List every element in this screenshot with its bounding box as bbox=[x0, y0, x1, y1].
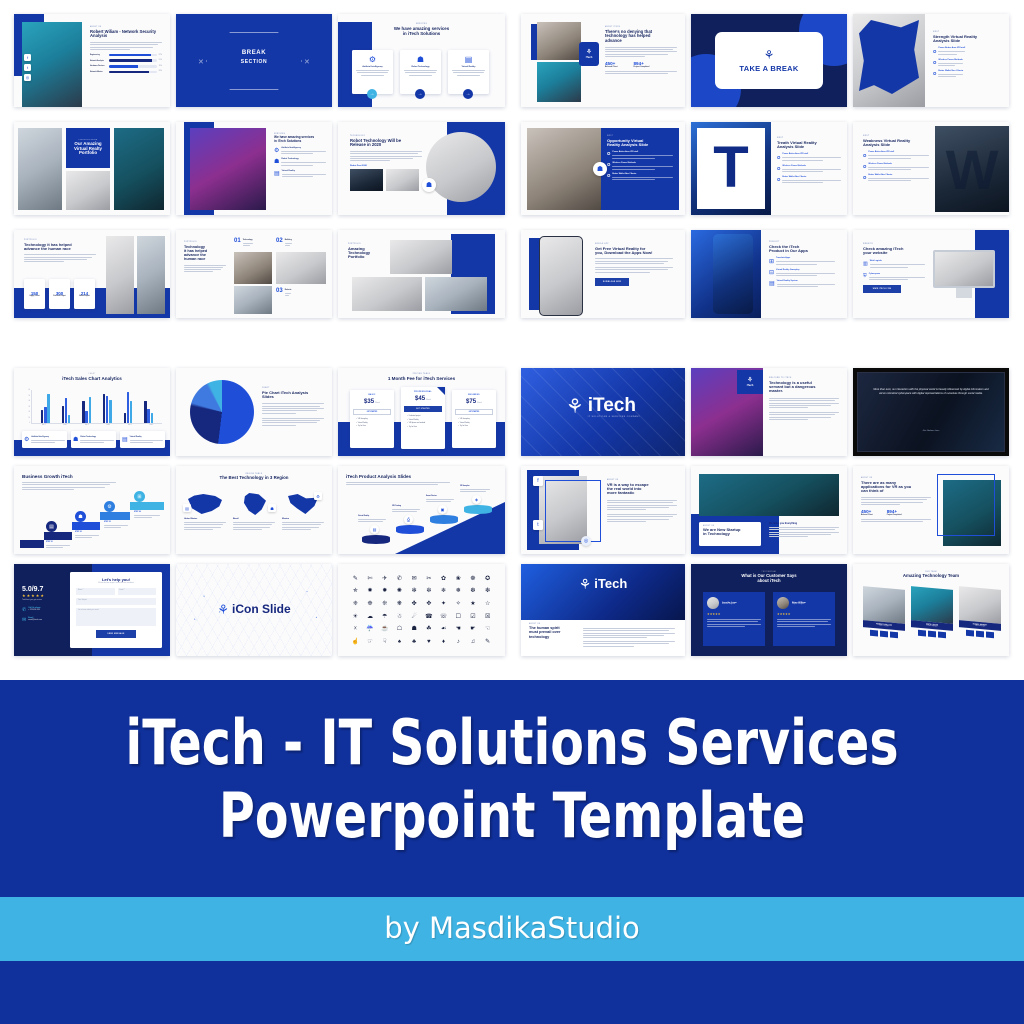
rating-stars: ★★★★★ bbox=[707, 612, 761, 616]
robot-icon: ☗ bbox=[422, 178, 436, 192]
photo-tile bbox=[425, 277, 487, 311]
slide-thumb-break-section[interactable]: BREAK SECTION ✕ ✕ bbox=[176, 14, 332, 107]
swot-item-label: Better Wallet Neo Ciberia bbox=[868, 174, 929, 176]
instagram-icon[interactable]: ◎ bbox=[581, 536, 591, 546]
slide-thumb-take-a-break[interactable]: ⚘ TAKE A BREAK bbox=[691, 14, 847, 107]
slide-thumb-product-analysis[interactable]: iTech Product Analysis Slides ▤ ⎙ ▣ ◈ Vi… bbox=[338, 466, 505, 554]
swot-panel: SWOT Opportunity Virtual Reality Analysi… bbox=[601, 128, 679, 210]
plan-button[interactable]: GET STARTED bbox=[353, 409, 391, 415]
slide-thumb-swot-opportunity[interactable]: SWOT Opportunity Virtual Reality Analysi… bbox=[521, 122, 685, 215]
icon-pack-glyph: ☛ bbox=[470, 625, 475, 632]
pricing-card-list: BASIC $35 /Month GET STARTED ✓ VR Gamepl… bbox=[350, 390, 496, 449]
icon-pack-glyph: ✧ bbox=[456, 600, 461, 607]
analysis-item: Smart Device bbox=[426, 495, 454, 502]
frame-outline bbox=[545, 480, 601, 542]
service-card-title: Artificial Intelligency bbox=[356, 66, 389, 68]
slide-title: Amazing Technology Team bbox=[853, 574, 1009, 579]
robot-icon: ☗ bbox=[73, 436, 78, 443]
check-circle-icon: ✪ bbox=[777, 165, 780, 172]
twitter-icon[interactable] bbox=[880, 631, 888, 638]
stat-label: Skilled Expert bbox=[79, 296, 90, 297]
item-label: Building bbox=[285, 239, 292, 241]
plan-name: BASIC bbox=[353, 394, 391, 396]
icon-pack-glyph: ✉ bbox=[412, 575, 417, 582]
team-list: ROBERT WILLIAM CEO Founder ANITA LUCAS P… bbox=[863, 588, 1001, 637]
swot-item-label: Wireless Power Methode bbox=[612, 162, 673, 164]
slide-eyebrow: PRICING TABLE bbox=[338, 374, 505, 375]
skill-label: Network Analysis bbox=[90, 60, 107, 62]
icon-pack-glyph: ☚ bbox=[456, 625, 461, 632]
icon-pack-glyph: ☔ bbox=[366, 625, 373, 632]
slide-eyebrow: PRODUCT bbox=[769, 242, 835, 243]
instagram-icon[interactable] bbox=[986, 632, 994, 639]
instagram-icon[interactable]: ◎ bbox=[24, 74, 31, 81]
check-circle-icon: ✪ bbox=[607, 173, 610, 180]
slide-thumb-team[interactable]: OUR TEAM Amazing Technology Team ROBERT … bbox=[853, 564, 1009, 656]
plan-feature: ✓ Unlimited project bbox=[407, 416, 442, 417]
icon-pack-glyph: ☒ bbox=[485, 613, 490, 620]
photo-tile bbox=[234, 252, 272, 284]
break-title: TAKE A BREAK bbox=[739, 64, 798, 73]
icon-pack-glyph: ❊ bbox=[382, 600, 387, 607]
quote-bg bbox=[857, 372, 1005, 452]
byline-text: by MasdikaStudio bbox=[0, 911, 1024, 945]
footer-bar bbox=[0, 961, 1024, 1024]
photo-tile bbox=[390, 240, 452, 274]
icon-pack-glyph: ✆ bbox=[397, 575, 402, 582]
slide-eyebrow: SWOT bbox=[777, 138, 841, 139]
swot-item-list: ✪ Power Better Area VR Intell ✪ Wireless… bbox=[607, 151, 673, 180]
step-label-block: STEP 01 bbox=[46, 541, 70, 548]
check-circle-icon: ✪ bbox=[933, 59, 936, 66]
legend-item: ⚙ Artificial Intelligency bbox=[22, 431, 67, 448]
phone-icon: ✆ bbox=[22, 607, 26, 613]
service-card[interactable]: ☗ Robot Technology → bbox=[400, 50, 441, 94]
ai-icon: ⚙ bbox=[24, 436, 29, 443]
twitter-icon[interactable]: t bbox=[24, 64, 31, 71]
platform-4 bbox=[464, 505, 492, 514]
slide-title-2: in Technology bbox=[703, 532, 757, 536]
pricing-card-professional[interactable]: PROFESSIONAL $45 /Month GET STARTED ✓ Un… bbox=[401, 387, 445, 449]
item-label: Virtual Reality bbox=[358, 515, 386, 517]
slide-thumb-business-growth[interactable]: Business Growth iTech ▤ ☗ ⚙ ⊞ STEP 01 ST… bbox=[14, 466, 170, 554]
icon-pack-glyph: ☑ bbox=[470, 613, 475, 620]
icon-pack-glyph: ☝ bbox=[352, 638, 359, 645]
slide-thumb-amazing-portfolio[interactable]: PORTFOLIO Amazing Technology Portfolio bbox=[338, 230, 505, 318]
slide-eyebrow: PORTFOLIO SLIDE bbox=[79, 140, 98, 141]
slide-thumb-vr-portfolio[interactable]: PORTFOLIO SLIDE Our Amazing Virtual Real… bbox=[14, 122, 170, 215]
pricing-card-basic[interactable]: BASIC $35 /Month GET STARTED ✓ VR Gamepl… bbox=[350, 390, 394, 448]
vr-icon: ▤ bbox=[769, 280, 775, 287]
twitter-icon[interactable]: t bbox=[533, 520, 543, 530]
stat-label: Finished Project bbox=[53, 296, 65, 297]
startup-title-card: ABOUT US We are New Startup in Technolog… bbox=[699, 522, 761, 546]
device-icon: ▣ bbox=[438, 505, 447, 514]
feature-item: ▤ Virtual Reality System bbox=[769, 280, 835, 287]
portfolio-photo-2 bbox=[66, 171, 110, 210]
icon-pack-glyph: ☃ bbox=[397, 613, 402, 620]
icon-pack-glyph: ☂ bbox=[382, 613, 387, 620]
region-item: ▤ United States bbox=[184, 492, 226, 530]
skill-row: Hardware Devices 76% bbox=[90, 65, 162, 68]
slide-title-2: Release in 2020 bbox=[350, 143, 422, 148]
swot-item: ✪ Wireless Power Methode bbox=[607, 162, 673, 169]
itech-mark-icon: ⚘ bbox=[764, 49, 775, 61]
mail-icon: ✉ bbox=[22, 617, 26, 623]
phone-mockup bbox=[539, 236, 583, 316]
itech-mark-icon: ⚘ bbox=[747, 377, 753, 384]
slide-title: iTech Product Analysis Slides bbox=[346, 474, 450, 479]
slide-title-2: about iTech bbox=[691, 579, 847, 584]
slide-title-3: advance bbox=[605, 39, 677, 44]
slide-thumb-robot-technology[interactable]: TECHNOLOGY Robot Technology Will be Rele… bbox=[338, 122, 505, 215]
poster-page: f t ◎ ABOUT US Robert Wiliam - Network S… bbox=[0, 0, 1024, 1024]
check-circle-icon: ✪ bbox=[863, 163, 866, 170]
slide-thumb-swot-strength[interactable]: SWOT Strength Virtual Reality Analysis S… bbox=[853, 14, 1009, 107]
feature-item: ⊟ Virtual Reality Gameplay bbox=[769, 269, 835, 276]
numbered-item: 03 Robotic bbox=[276, 288, 291, 296]
slide-eyebrow: CHART bbox=[262, 388, 324, 389]
check-circle-icon: ✪ bbox=[777, 176, 780, 183]
slide-thumb-human-spirit[interactable]: ⚘ iTech ABOUT US The human spirit must p… bbox=[521, 564, 685, 656]
icon-pack-glyph: ✼ bbox=[426, 587, 431, 594]
slide-thumb-testimonial[interactable]: TESTIMONIAL What is Our Customer Says ab… bbox=[691, 564, 847, 656]
person-role: Business Engineer bbox=[722, 604, 737, 605]
skill-list: Engineering 87% Network Analysis 91% Har… bbox=[90, 54, 162, 73]
robot-photo bbox=[426, 132, 496, 202]
poster-title-line2: Powerpoint Template bbox=[61, 779, 962, 852]
slide-thumb-vr-escape[interactable]: f t ◎ ABOUT US VR is a way to escape the… bbox=[521, 466, 685, 554]
swot-item-list: ✪ Power Better Area VR Intell ✪ Wireless… bbox=[863, 151, 929, 181]
facebook-icon[interactable] bbox=[870, 630, 878, 637]
slide-thumb-pie-chart[interactable]: CHART Pie Chart iTech Analysis Slides bbox=[176, 368, 332, 456]
item-label: 3D Samples bbox=[460, 485, 490, 487]
slide-thumb-tech-numbered[interactable]: PORTFOLIO Technology it has helped advan… bbox=[176, 230, 332, 318]
skill-value: 87% bbox=[159, 55, 162, 56]
slide-thumb-swot-threat[interactable]: T SWOT Treath Virtual Reality Analysis S… bbox=[691, 122, 847, 215]
logo-tagline: IT SOLUTIONS & SERVICES COMPANY bbox=[588, 416, 640, 418]
hero-photo bbox=[521, 564, 685, 620]
twitter-icon[interactable] bbox=[976, 631, 984, 638]
featured-ribbon bbox=[437, 387, 445, 395]
slide-thumb-icon-pack[interactable]: ✎✄✈✆✉✂✿❀❁✪✯✸✹✺✻✼❄❅❆❇❈❉❊❋✤✥✦✧★☆☀☁☂☃☄☎☏☐☑☒… bbox=[338, 564, 505, 656]
icon-pack-glyph: ❅ bbox=[456, 587, 461, 594]
form-subtitle: Fill out this form to get in touch with … bbox=[76, 583, 156, 584]
ai-icon: ⚙ bbox=[274, 147, 279, 154]
slide-title: iCon Slide bbox=[232, 602, 291, 616]
check-circle-icon: ✪ bbox=[607, 162, 610, 169]
slide-eyebrow: ABOUT US bbox=[607, 480, 677, 481]
region-name: Brazil bbox=[233, 518, 275, 520]
skill-label: Hardware Devices bbox=[90, 65, 107, 67]
chart-eyebrow: CHART bbox=[14, 374, 170, 375]
letter-W: W bbox=[939, 130, 1005, 208]
swot-item-label: Better Wallet Neo Ciberia bbox=[938, 70, 963, 72]
slide-thumb-pricing[interactable]: PRICING TABLE 1 Month Fee for iTech Serv… bbox=[338, 368, 505, 456]
slide-thumb-quote[interactable]: More than ever, our interaction with the… bbox=[853, 368, 1009, 456]
icon-pack-glyph: ☘ bbox=[426, 625, 431, 632]
twitter-icon[interactable] bbox=[928, 631, 936, 638]
plan-price: $45 bbox=[415, 396, 425, 402]
side-title: We Make you Everything bbox=[769, 522, 839, 525]
icon-pack-glyph: ♠ bbox=[398, 639, 401, 645]
slide-thumb-download-apps[interactable]: MOBILE APP Get Free Virtual Reality for … bbox=[521, 230, 685, 318]
slide-title-2: Reality Analysis Slide bbox=[607, 143, 673, 147]
slide-thumb-cover-itech[interactable]: ⚘ iTech IT SOLUTIONS & SERVICES COMPANY bbox=[521, 368, 685, 456]
slide-thumb-product-apps[interactable]: PRODUCT Check the iTech Product in Our A… bbox=[691, 230, 847, 318]
person-photo-1 bbox=[537, 22, 581, 60]
slide-thumb-about-itech[interactable]: ⚘ iTech ABOUT ITECH There's no denying t… bbox=[521, 14, 685, 107]
region-name: Mexico bbox=[282, 518, 324, 520]
facebook-icon[interactable]: f bbox=[533, 476, 543, 486]
skill-value: 83% bbox=[159, 71, 162, 72]
feature-label: Translate Apps bbox=[776, 257, 835, 259]
icon-pack-glyph: ✦ bbox=[441, 600, 446, 607]
x-tick: Item 5 bbox=[128, 425, 132, 426]
itech-mark-icon: ⚘ bbox=[586, 49, 592, 56]
analysis-item: Virtual Reality bbox=[358, 515, 386, 522]
step-label: STEP 02 bbox=[75, 531, 99, 533]
slide-eyebrow: SWOT bbox=[863, 136, 929, 137]
website-button[interactable]: WWW.ITECH.COM bbox=[863, 285, 901, 293]
slide-title-2: your website bbox=[863, 251, 925, 255]
slide-thumb-services[interactable]: SERVICES We have amazing services in iTe… bbox=[338, 14, 505, 107]
icon-pack-glyph: ✿ bbox=[441, 575, 446, 582]
icon-pack-glyph: ❋ bbox=[397, 600, 402, 607]
region-item: ⚙ Mexico bbox=[282, 492, 324, 530]
slide-thumb-services-list[interactable]: SERVICES We have amazing services in iTe… bbox=[176, 122, 332, 215]
x-tick: Item 1 bbox=[42, 425, 46, 426]
chart-legend: ⚙ Artificial Intelligency ☗ Robot Techno… bbox=[22, 431, 165, 448]
itech-mark-icon: ⚘ bbox=[217, 603, 229, 616]
service-item-label: Robot Technology bbox=[281, 158, 326, 160]
vr-icon: ▤ bbox=[370, 525, 379, 534]
slide-title: Business Growth iTech bbox=[22, 474, 116, 479]
slide-thumb-tech-advance[interactable]: PORTFOLIO Technology it has helped advan… bbox=[14, 230, 170, 318]
legend-label: Robot Technology bbox=[80, 436, 114, 438]
bar-chart-plot: 6050403020100 bbox=[24, 390, 162, 424]
skill-row: Network Master 83% bbox=[90, 71, 162, 74]
service-card[interactable]: ⚙ Artificial Intelligency → bbox=[352, 50, 393, 94]
robot-feat-link[interactable]: Robot Feat 2020 bbox=[350, 165, 422, 167]
itech-mark-icon: ⚘ bbox=[566, 397, 584, 417]
frame-outline bbox=[937, 474, 995, 536]
slide-title-3: technology bbox=[529, 635, 577, 639]
car-photo bbox=[137, 236, 165, 314]
step-label: STEP 01 bbox=[46, 541, 70, 543]
testimonial-card: Jennifer Lowe Business Engineer ★★★★★ bbox=[703, 592, 765, 646]
slide-eyebrow: PORTFOLIO bbox=[348, 244, 388, 245]
bar-group bbox=[103, 390, 112, 423]
plan-feature: ✓ Try for Free bbox=[407, 427, 442, 428]
swot-item: ✪ Better Wallet Neo Ciberia bbox=[933, 70, 999, 77]
facebook-icon[interactable]: f bbox=[24, 54, 31, 61]
feature-item: ⊞ Translate Apps bbox=[769, 257, 835, 264]
service-item-list: ⚙ Artificial Intelligency ☗ Robot Techno… bbox=[274, 147, 326, 177]
platform-3 bbox=[430, 515, 458, 524]
translate-icon: ⊞ bbox=[769, 257, 774, 264]
instagram-icon[interactable] bbox=[938, 632, 946, 639]
swot-item-label: Wireless Power Methode bbox=[782, 165, 841, 167]
x-tick: Item 6 bbox=[149, 425, 153, 426]
platform-2 bbox=[396, 525, 424, 534]
plan-button[interactable]: GET STARTED bbox=[404, 406, 442, 412]
slide-title-2: advance the human race bbox=[24, 247, 96, 251]
testimonial-list: Jennifer Lowe Business Engineer ★★★★★ Br… bbox=[703, 592, 835, 646]
icon-pack-glyph: ♫ bbox=[471, 639, 476, 645]
slide-thumb-vr-applications[interactable]: ABOUT US There are as many applications … bbox=[853, 466, 1009, 554]
legend-item: ☗ Robot Technology bbox=[71, 431, 116, 448]
icon-pack-glyph: ❁ bbox=[470, 575, 475, 582]
icon-pack-glyph: ✈ bbox=[382, 575, 387, 582]
slide-title-2: Analysis Slide bbox=[777, 145, 841, 149]
quote-author: - Eric Barbara Lam - bbox=[871, 430, 991, 432]
pricing-card-business[interactable]: BUSINESS $75 /Month GET STARTED ✓ VR Gam… bbox=[452, 390, 496, 448]
icon-pack-glyph: ☕ bbox=[381, 625, 388, 632]
icon-pack-glyph: ❈ bbox=[353, 600, 358, 607]
swot-item-list: ✪ Power Better Area VR Intell ✪ Wireless… bbox=[777, 153, 841, 183]
stat-card: 300 Finished Project bbox=[49, 279, 70, 309]
legend-label: Artificial Intelligency bbox=[31, 436, 65, 438]
region-list: ▤ United States ☗ Brazil ⚙ bbox=[184, 492, 324, 530]
slide-thumb-useful-servant[interactable]: ⚘ iTech WELCOME TO ITECH Technology is a… bbox=[691, 368, 847, 456]
swot-item-label: Wireless Power Methode bbox=[938, 59, 962, 61]
icon-pack-glyph: ☗ bbox=[411, 625, 416, 632]
email-field[interactable]: Email * bbox=[118, 588, 157, 595]
slide-eyebrow: WEBSITE bbox=[863, 244, 925, 245]
analysis-item: 3D Samples bbox=[460, 485, 490, 492]
feature-list: ⊞ Translate Apps ⊟ Virtual Reality Gamep… bbox=[769, 257, 835, 287]
chart-title: iTech Sales Chart Analytics bbox=[14, 376, 170, 381]
icon-pack-glyph: ✺ bbox=[397, 587, 402, 594]
arrow-right-icon[interactable]: → bbox=[463, 89, 473, 99]
instagram-icon[interactable] bbox=[890, 632, 898, 639]
slide-eyebrow: SERVICES bbox=[338, 24, 505, 25]
logo-text: iTech bbox=[588, 396, 640, 415]
facebook-icon[interactable] bbox=[966, 630, 974, 637]
slide-thumb-about-profile[interactable]: f t ◎ ABOUT US Robert Wiliam - Network S… bbox=[14, 14, 170, 107]
vr-icon: ▤ bbox=[183, 504, 191, 512]
arrow-right-icon[interactable]: → bbox=[367, 89, 377, 99]
swot-item: ✪ Power Better Area VR Intell bbox=[933, 47, 999, 54]
stat-list: 450+ Beloved Client 894+ Project Complet… bbox=[605, 61, 677, 68]
stat-label: Project Completed bbox=[887, 514, 902, 516]
swot-item-label: Power Better Area VR Intell bbox=[938, 47, 965, 49]
swot-item: ✪ Better Wallet Neo Ciberia bbox=[863, 174, 929, 181]
slide-title: Robert Wiliam - Network Security Analysi… bbox=[90, 30, 162, 39]
portfolio-title-tile: PORTFOLIO SLIDE Our Amazing Virtual Real… bbox=[66, 128, 110, 168]
icon-pack-glyph: ✎ bbox=[485, 638, 490, 645]
feature-item: ⛨ Cyberspace bbox=[863, 273, 925, 280]
icon-pack-glyph: ☎ bbox=[425, 613, 432, 620]
member-photo bbox=[959, 586, 1001, 624]
slide-thumb-swot-weakness[interactable]: SWOT Weakness Virtual Reality Analysis S… bbox=[853, 122, 1009, 215]
check-circle-icon: ✪ bbox=[933, 70, 936, 77]
member-social[interactable] bbox=[863, 629, 905, 639]
message-field[interactable]: Let us know about your need bbox=[76, 608, 156, 626]
plan-feature: ✓ Try for Free bbox=[356, 426, 391, 427]
thumb-photo bbox=[386, 169, 419, 191]
service-card[interactable]: ▤ Virtual Reality → bbox=[448, 50, 489, 94]
thumb-photo bbox=[350, 169, 383, 191]
logo-text: iTech bbox=[747, 384, 754, 387]
skill-label: Network Master bbox=[90, 71, 107, 73]
icon-pack-glyph: ✹ bbox=[382, 587, 387, 594]
send-message-button[interactable]: SEND MESSAGE bbox=[96, 630, 136, 638]
arrow-right-icon[interactable]: → bbox=[415, 89, 425, 99]
robot-icon: ☗ bbox=[268, 504, 276, 512]
slide-thumb-website[interactable]: WEBSITE Check amazing iTech your website… bbox=[853, 230, 1009, 318]
plan-button[interactable]: GET STARTED bbox=[455, 409, 493, 415]
contact-form-card: Let's help you! Fill out this form to ge… bbox=[70, 572, 162, 648]
testimonial-card: Brian William Graphic Designer ★★★★★ bbox=[773, 592, 835, 646]
portfolio-photo-1 bbox=[18, 128, 62, 210]
slide-thumb-contact[interactable]: 5.0/9.7 ★★★★★ Total best you got review … bbox=[14, 564, 170, 656]
download-now-button[interactable]: DOWNLOAD NOW bbox=[595, 278, 629, 286]
service-item-label: Artificial Intelligency bbox=[281, 147, 326, 149]
icon-pack-glyph: ✻ bbox=[412, 587, 417, 594]
legend-label: Virtual Reality bbox=[130, 436, 163, 438]
item-number: 02 bbox=[276, 238, 283, 244]
platform-1 bbox=[362, 535, 390, 544]
subject-field[interactable]: Your Subject bbox=[76, 598, 156, 605]
slide-grid: f t ◎ ABOUT US Robert Wiliam - Network S… bbox=[0, 0, 1024, 680]
icon-pack-glyph: ☜ bbox=[485, 625, 490, 632]
slide-title: The Best Technology in 3 Region bbox=[176, 476, 332, 481]
icon-pack-glyph: ✸ bbox=[368, 587, 373, 594]
icon-pack-glyph: ♦ bbox=[442, 639, 445, 645]
photo-tile bbox=[352, 277, 422, 311]
form-title: Let's help you! bbox=[76, 577, 156, 582]
icon-pack-glyph: ☓ bbox=[354, 625, 357, 632]
slide-thumb-bar-chart[interactable]: iTech Sales Chart Analytics CHART iTech … bbox=[14, 368, 170, 456]
vr-photo bbox=[190, 128, 266, 210]
name-field[interactable]: Name * bbox=[76, 588, 115, 595]
monitor-mockup bbox=[933, 250, 995, 288]
building-photo bbox=[699, 474, 839, 516]
slide-title-3: more fantastic bbox=[607, 491, 677, 495]
icon-pack-glyph: ♥ bbox=[427, 639, 431, 645]
plan-name: BUSINESS bbox=[455, 394, 493, 396]
feature-label: Virtual Reality Gameplay bbox=[776, 269, 835, 271]
slide-thumb-regions[interactable]: REGION TABLE The Best Technology in 3 Re… bbox=[176, 466, 332, 554]
member-social[interactable] bbox=[959, 629, 1001, 639]
stat-label: Beloved Client bbox=[605, 66, 617, 68]
member-social[interactable] bbox=[911, 629, 953, 639]
plan-feature: ✓ Virtual Reality bbox=[407, 420, 442, 421]
vr-icon: ▤ bbox=[122, 436, 128, 443]
swot-item: ✪ Wireless Power Methode bbox=[863, 163, 929, 170]
icon-pack-glyph: ✥ bbox=[426, 600, 431, 607]
slide-title-2: Analysis Slide bbox=[933, 39, 999, 43]
item-label: Robotic bbox=[285, 289, 292, 291]
item-number: 01 bbox=[234, 238, 241, 244]
icon-pack-glyph: ☟ bbox=[383, 638, 387, 645]
itech-mark-icon: ⚘ bbox=[579, 577, 592, 591]
social-links[interactable]: f t ◎ bbox=[24, 54, 31, 81]
slide-thumb-icon-slide[interactable]: ⚘ iCon Slide bbox=[176, 564, 332, 656]
slide-eyebrow: TECHNOLOGY bbox=[350, 136, 422, 137]
facebook-icon[interactable] bbox=[918, 630, 926, 637]
check-circle-icon: ✪ bbox=[607, 151, 610, 158]
plan-period: /Month bbox=[426, 400, 431, 401]
slide-title-2: in iTech Solutions bbox=[274, 140, 326, 144]
slide-thumb-new-startup[interactable]: ABOUT US We are New Startup in Technolog… bbox=[691, 466, 847, 554]
swot-item-list: ✪ Power Better Area VR Intell ✪ Wireless… bbox=[933, 47, 999, 77]
x-tick: Item 4 bbox=[106, 425, 110, 426]
slide-title-2: Analysis Slide bbox=[863, 143, 929, 147]
stat-label: Happy Client bbox=[30, 296, 40, 297]
